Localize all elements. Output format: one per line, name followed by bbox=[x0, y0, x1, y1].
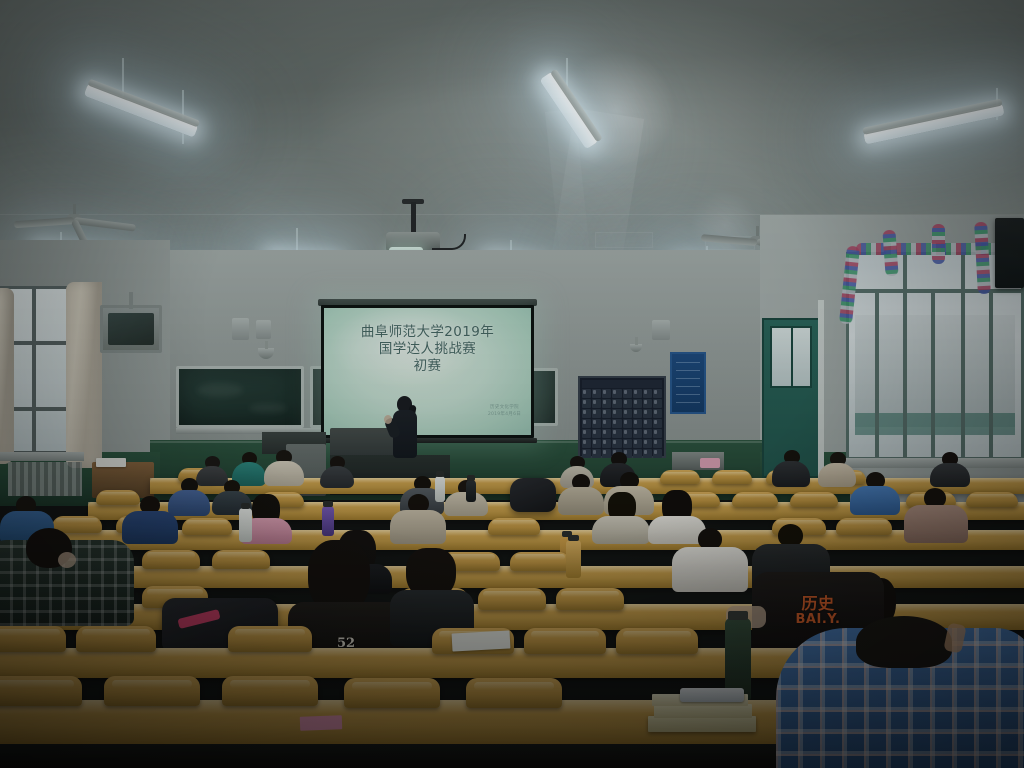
board-photo-cell bbox=[623, 419, 632, 428]
board-photo-cell bbox=[623, 399, 632, 408]
student bbox=[320, 456, 354, 486]
chair bbox=[104, 676, 200, 706]
student-face bbox=[58, 552, 76, 568]
board-photo-cell bbox=[582, 389, 591, 398]
board-photo-cell bbox=[653, 439, 662, 448]
window-mullion bbox=[961, 255, 965, 457]
blackboard-left bbox=[176, 366, 304, 428]
board-photo-cell bbox=[643, 389, 652, 398]
wall-speaker bbox=[652, 320, 670, 340]
classroom-photo: 曲阜师范大学2019年 国学达人挑战赛 初赛 历史文化学院 2019年4月6日 bbox=[0, 0, 1024, 768]
board-photo-cell bbox=[623, 389, 632, 398]
pink-sticky-note bbox=[300, 715, 342, 730]
board-photo-cell bbox=[633, 399, 642, 408]
student bbox=[390, 494, 446, 542]
board-photo-cell bbox=[592, 419, 601, 428]
book-stack bbox=[646, 690, 756, 734]
jacket-text-cn: 历史 bbox=[752, 590, 884, 614]
student-body bbox=[772, 461, 810, 487]
student-body bbox=[904, 505, 968, 543]
board-photo-cell bbox=[633, 419, 642, 428]
student-body bbox=[592, 516, 650, 544]
board-photo-cell bbox=[612, 399, 621, 408]
blue-poster bbox=[670, 352, 706, 414]
presenter bbox=[391, 396, 419, 468]
backpack bbox=[510, 478, 556, 512]
fan-blade bbox=[14, 217, 74, 228]
wall-speaker bbox=[256, 320, 271, 339]
board-photo-cell bbox=[643, 409, 652, 418]
projection-screen: 曲阜师范大学2019年 国学达人挑战赛 初赛 历史文化学院 2019年4月6日 bbox=[324, 308, 531, 435]
dome-stem bbox=[265, 341, 268, 349]
board-photo-grid bbox=[582, 389, 662, 454]
student bbox=[390, 548, 474, 640]
board-photo-cell bbox=[643, 439, 652, 448]
board-photo-cell bbox=[602, 389, 611, 398]
board-photo-cell bbox=[592, 389, 601, 398]
chair bbox=[142, 550, 200, 569]
window-bar bbox=[931, 289, 935, 457]
chair bbox=[510, 552, 570, 571]
window-mullion bbox=[32, 289, 36, 451]
chair bbox=[222, 676, 318, 706]
chair bbox=[524, 628, 606, 654]
student bbox=[904, 488, 968, 542]
chair bbox=[488, 518, 540, 535]
student-body bbox=[672, 547, 748, 592]
board-photo-cell bbox=[643, 399, 652, 408]
chair bbox=[966, 492, 1018, 507]
window-curtain bbox=[0, 288, 14, 464]
paper-sheet bbox=[452, 630, 511, 651]
board-photo-cell bbox=[612, 419, 621, 428]
dome-stem bbox=[635, 337, 638, 345]
board-photo-cell bbox=[623, 429, 632, 438]
board-header bbox=[582, 380, 662, 388]
board-photo-cell bbox=[582, 439, 591, 448]
fan-blade bbox=[701, 234, 757, 246]
pink-item bbox=[700, 458, 720, 468]
chair bbox=[712, 470, 752, 484]
chair bbox=[732, 492, 778, 507]
board-photo-cell bbox=[633, 389, 642, 398]
student-body bbox=[390, 510, 446, 544]
board-photo-cell bbox=[643, 419, 652, 428]
board-photo-cell bbox=[602, 439, 611, 448]
board-photo-cell bbox=[653, 399, 662, 408]
projection-screen-frame: 曲阜师范大学2019年 国学达人挑战赛 初赛 历史文化学院 2019年4月6日 bbox=[321, 305, 534, 438]
book bbox=[648, 716, 756, 732]
board-photo-cell bbox=[612, 409, 621, 418]
projector-pole bbox=[411, 202, 416, 234]
window-bar bbox=[875, 289, 879, 457]
chair bbox=[790, 492, 838, 507]
board-photo-cell bbox=[582, 419, 591, 428]
chair bbox=[556, 588, 624, 610]
board-photo-cell bbox=[592, 429, 601, 438]
chair bbox=[0, 676, 82, 706]
tinsel-strand bbox=[932, 224, 945, 264]
pencil-case bbox=[680, 688, 744, 702]
chalk-smudge bbox=[249, 403, 287, 413]
jacket-text-en: BAI.Y. bbox=[752, 612, 884, 627]
board-photo-cell bbox=[653, 409, 662, 418]
paper-on-table bbox=[96, 458, 126, 467]
chair bbox=[0, 626, 66, 652]
board-photo-cell bbox=[643, 429, 652, 438]
student bbox=[264, 450, 304, 484]
board-photo-cell bbox=[612, 389, 621, 398]
student-body bbox=[320, 466, 354, 488]
slide-footer: 历史文化学院 2019年4月6日 bbox=[488, 404, 521, 418]
slide-line-2: 国学达人挑战赛 bbox=[324, 341, 531, 358]
window-sill bbox=[0, 452, 84, 461]
fan-blade bbox=[74, 217, 136, 232]
chair bbox=[478, 588, 546, 610]
board-photo-cell bbox=[643, 449, 652, 458]
slide-footer-2: 2019年4月6日 bbox=[488, 411, 521, 418]
wall-monitor bbox=[100, 305, 162, 353]
board-photo-cell bbox=[602, 399, 611, 408]
chair bbox=[344, 678, 440, 708]
wall-speaker bbox=[232, 318, 249, 340]
bulletin-board bbox=[578, 376, 666, 458]
student bbox=[930, 452, 970, 486]
corner-speaker bbox=[995, 218, 1024, 288]
thermos bbox=[566, 540, 581, 578]
board-photo-cell bbox=[612, 429, 621, 438]
student-body bbox=[264, 461, 304, 486]
board-photo-cell bbox=[633, 429, 642, 438]
board-photo-cell bbox=[653, 449, 662, 458]
student-head bbox=[856, 616, 952, 668]
student-body bbox=[930, 463, 970, 487]
student bbox=[772, 450, 810, 486]
slide-line-1: 曲阜师范大学2019年 bbox=[324, 324, 531, 341]
student-body bbox=[850, 486, 900, 515]
chair bbox=[466, 678, 562, 708]
board-photo-cell bbox=[602, 429, 611, 438]
thermos bbox=[239, 508, 252, 542]
ceiling-projector bbox=[386, 232, 440, 252]
student bbox=[850, 472, 900, 512]
board-photo-cell bbox=[582, 399, 591, 408]
student bbox=[592, 492, 650, 542]
monitor-screen bbox=[108, 313, 154, 345]
student bbox=[672, 528, 748, 590]
chalk-smudge bbox=[197, 383, 243, 397]
board-photo-cell bbox=[592, 439, 601, 448]
board-photo-cell bbox=[582, 429, 591, 438]
board-photo-cell bbox=[602, 409, 611, 418]
slide-footer-1: 历史文化学院 bbox=[488, 404, 521, 411]
door-mullion bbox=[791, 326, 793, 388]
chair bbox=[836, 518, 892, 535]
student-body bbox=[122, 511, 178, 544]
slide-line-3: 初赛 bbox=[324, 358, 531, 375]
ceiling-fan bbox=[14, 204, 134, 232]
board-photo-cell bbox=[602, 419, 611, 428]
board-photo-cell bbox=[653, 419, 662, 428]
chair bbox=[212, 550, 270, 569]
board-photo-cell bbox=[623, 439, 632, 448]
board-photo-cell bbox=[653, 429, 662, 438]
window-bar bbox=[989, 289, 993, 457]
board-photo-cell bbox=[582, 409, 591, 418]
radiator bbox=[8, 462, 82, 496]
chair bbox=[660, 470, 700, 484]
window-curtain bbox=[66, 282, 102, 468]
book bbox=[654, 704, 752, 718]
board-photo-cell bbox=[653, 389, 662, 398]
monitor-bracket bbox=[129, 292, 133, 309]
presenter-hand bbox=[384, 415, 392, 424]
thermos bbox=[466, 480, 476, 502]
board-photo-cell bbox=[592, 399, 601, 408]
slide-title: 曲阜师范大学2019年 国学达人挑战赛 初赛 bbox=[324, 324, 531, 375]
board-photo-cell bbox=[612, 439, 621, 448]
window-mullion bbox=[903, 255, 907, 457]
board-photo-cell bbox=[623, 409, 632, 418]
chair bbox=[616, 628, 698, 654]
board-photo-cell bbox=[633, 409, 642, 418]
student bbox=[122, 496, 178, 542]
chair bbox=[228, 626, 312, 652]
chair bbox=[182, 518, 232, 535]
board-photo-cell bbox=[592, 409, 601, 418]
board-photo-cell bbox=[633, 439, 642, 448]
chair bbox=[76, 626, 156, 652]
